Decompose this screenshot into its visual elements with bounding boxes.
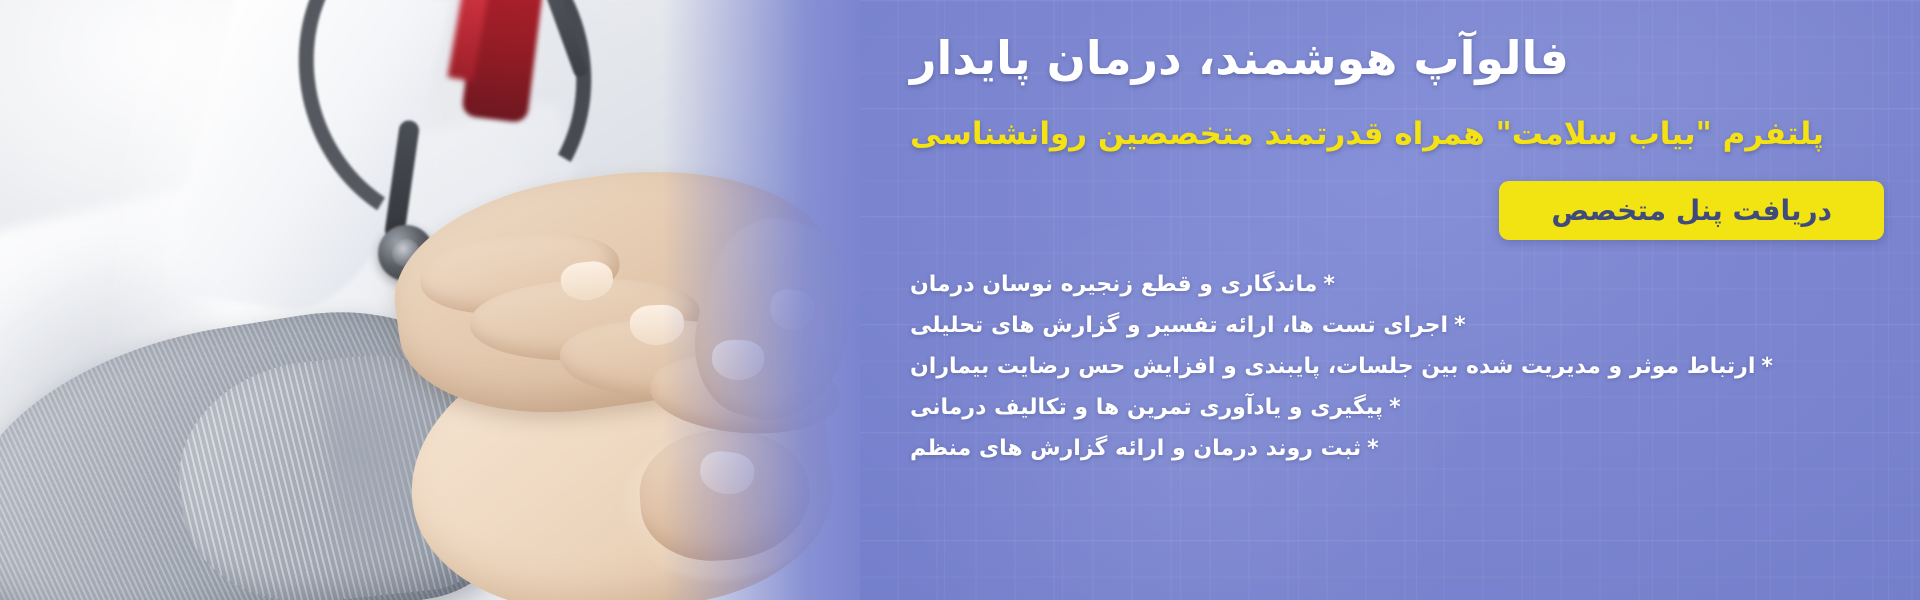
list-item-label: ثبت روند درمان و ارائه گزارش های منظم <box>910 436 1361 461</box>
bullet-marker-icon: * <box>1323 272 1335 297</box>
photo-gradient-fade <box>662 0 860 600</box>
cta-row: دریافت پنل متخصص <box>884 181 1884 240</box>
list-item: *ارتباط موثر و مدیریت شده بین جلسات، پای… <box>910 350 1884 383</box>
bullet-marker-icon: * <box>1389 395 1401 420</box>
banner-headline: فالوآپ هوشمند، درمان پایدار <box>884 30 1884 88</box>
list-item: *ماندگاری و قطع زنجیره نوسان درمان <box>910 268 1884 301</box>
list-item: *پیگیری و یادآوری تمرین ها و تکالیف درما… <box>910 391 1884 424</box>
bullet-marker-icon: * <box>1761 354 1773 379</box>
list-item-label: پیگیری و یادآوری تمرین ها و تکالیف درمان… <box>910 395 1383 420</box>
list-item: *اجرای تست ها، ارائه تفسیر و گزارش های ت… <box>910 309 1884 342</box>
bullet-marker-icon: * <box>1454 313 1466 338</box>
doctor-patient-photo <box>0 0 860 600</box>
hero-banner: فالوآپ هوشمند، درمان پایدار پلتفرم "بیاب… <box>0 0 1920 600</box>
get-specialist-panel-button[interactable]: دریافت پنل متخصص <box>1499 181 1884 240</box>
banner-content: فالوآپ هوشمند، درمان پایدار پلتفرم "بیاب… <box>884 0 1884 600</box>
list-item-label: اجرای تست ها، ارائه تفسیر و گزارش های تح… <box>910 313 1448 338</box>
list-item-label: ماندگاری و قطع زنجیره نوسان درمان <box>910 272 1317 297</box>
list-item-label: ارتباط موثر و مدیریت شده بین جلسات، پایب… <box>910 354 1755 379</box>
bullet-marker-icon: * <box>1367 436 1379 461</box>
banner-subheadline: پلتفرم "بیاب سلامت" همراه قدرتمند متخصصی… <box>884 114 1884 156</box>
list-item: *ثبت روند درمان و ارائه گزارش های منظم <box>910 432 1884 465</box>
feature-list: *ماندگاری و قطع زنجیره نوسان درمان *اجرا… <box>884 268 1884 465</box>
